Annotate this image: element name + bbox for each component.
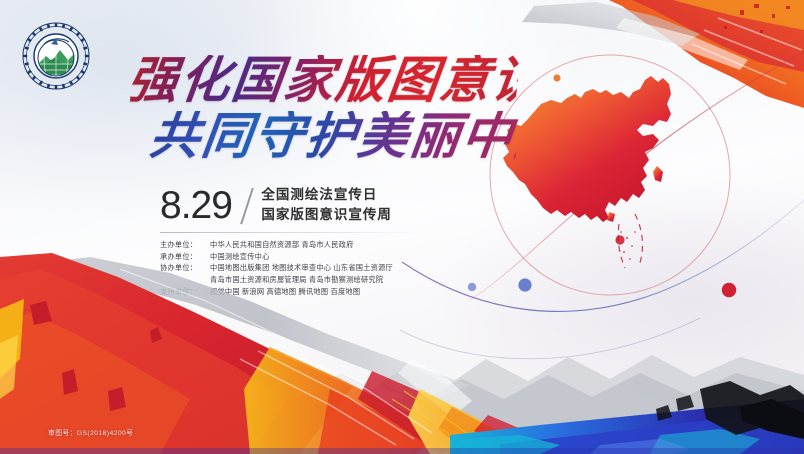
- bottom-brush-art: [0, 239, 804, 454]
- date-divider: [240, 187, 253, 224]
- organization-logo: [20, 20, 92, 92]
- headline-line-2: 共同守护美丽中国: [147, 111, 521, 161]
- headline-block: 强化国家版图意识 共同守护美丽中国: [128, 55, 518, 161]
- divider-rule: [160, 232, 422, 233]
- date-subtitle-group: 全国测绘法宣传日 国家版图意识宣传周: [261, 187, 392, 224]
- poster-canvas: 强化国家版图意识 共同守护美丽中国 8.29 全国测绘法宣传日 国家版图意识宣传…: [0, 0, 804, 454]
- date-subtitle-line-2: 国家版图意识宣传周: [261, 207, 392, 224]
- date-number: 8.29: [160, 186, 232, 225]
- map-review-number: 审图号：GS(2018)4200号: [48, 427, 133, 437]
- headline-line-1: 强化国家版图意识: [125, 55, 521, 105]
- date-block: 8.29 全国测绘法宣传日 国家版图意识宣传周: [160, 186, 392, 225]
- date-subtitle-line-1: 全国测绘法宣传日: [261, 187, 392, 204]
